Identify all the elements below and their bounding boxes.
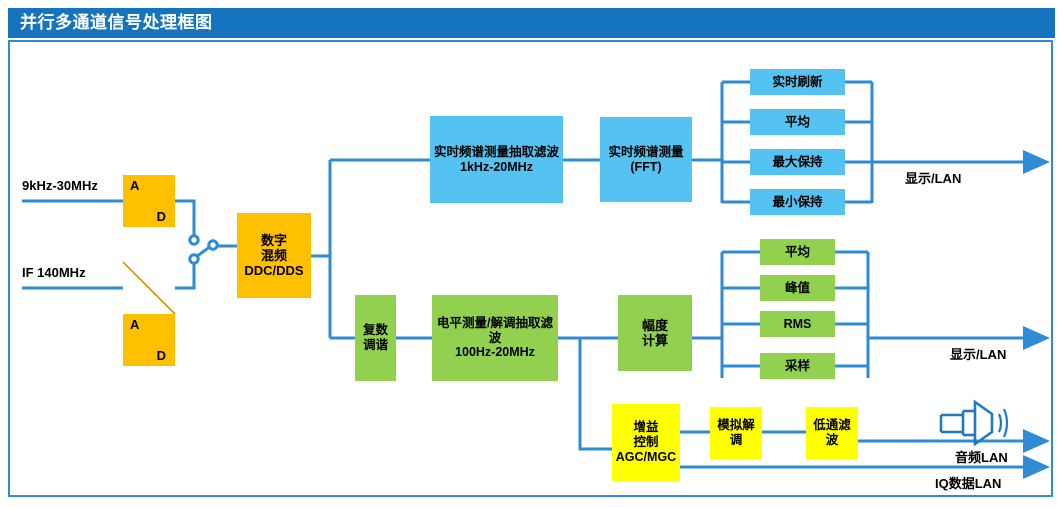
output-label-display-2: 显示/LAN bbox=[950, 344, 1006, 363]
level-result-sample[interactable]: 采样 bbox=[760, 353, 835, 379]
adc-a-label-1: A bbox=[130, 178, 139, 193]
output-label-iq-lan: IQ数据LAN bbox=[935, 473, 1001, 492]
block-analog-demod[interactable]: 模拟解 调 bbox=[710, 407, 762, 459]
adc-block-2[interactable]: A D bbox=[123, 314, 175, 366]
adc-d-label-2: D bbox=[157, 348, 166, 363]
block-fft[interactable]: 实时频谱测量 (FFT) bbox=[600, 117, 692, 202]
block-lowpass-filter[interactable]: 低通滤 波 bbox=[806, 407, 858, 459]
adc-block-1[interactable]: A D bbox=[123, 175, 175, 227]
spectrum-result-average[interactable]: 平均 bbox=[750, 109, 845, 135]
title-bar: 并行多通道信号处理框图 bbox=[8, 8, 1055, 38]
adc-d-label-1: D bbox=[157, 209, 166, 224]
diagram-page: 并行多通道信号处理框图 bbox=[0, 0, 1063, 507]
output-label-display-1: 显示/LAN bbox=[905, 168, 961, 187]
block-complex-tune[interactable]: 复数 调谐 bbox=[355, 295, 396, 381]
level-result-average[interactable]: 平均 bbox=[760, 239, 835, 265]
spectrum-result-realtime-refresh[interactable]: 实时刷新 bbox=[750, 69, 845, 95]
diagram-canvas bbox=[8, 40, 1053, 497]
level-result-rms[interactable]: RMS bbox=[760, 311, 835, 337]
block-amplitude-calc[interactable]: 幅度 计算 bbox=[618, 295, 692, 371]
adc-a-label-2: A bbox=[130, 317, 139, 332]
block-agc-mgc[interactable]: 增益 控制 AGC/MGC bbox=[612, 404, 680, 481]
input-label-2: IF 140MHz bbox=[22, 265, 86, 280]
spectrum-result-max-hold[interactable]: 最大保持 bbox=[750, 149, 845, 175]
block-level-filter[interactable]: 电平测量/解调抽取滤波 100Hz-20MHz bbox=[432, 295, 558, 381]
level-result-peak[interactable]: 峰值 bbox=[760, 275, 835, 301]
input-label-1: 9kHz-30MHz bbox=[22, 178, 98, 193]
spectrum-result-min-hold[interactable]: 最小保持 bbox=[750, 189, 845, 215]
output-label-audio-lan: 音频LAN bbox=[955, 447, 1008, 466]
page-title: 并行多通道信号处理框图 bbox=[20, 13, 213, 33]
block-ddc-dds[interactable]: 数字 混频 DDC/DDS bbox=[237, 213, 311, 298]
block-spectrum-filter[interactable]: 实时频谱测量抽取滤波 1kHz-20MHz bbox=[430, 116, 563, 203]
